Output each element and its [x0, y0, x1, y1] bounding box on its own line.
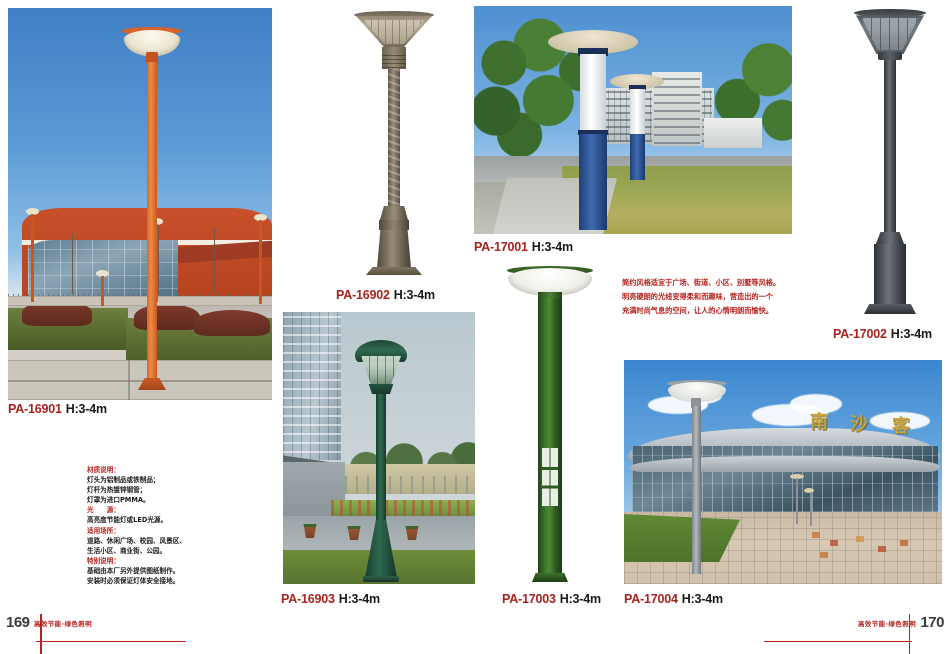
product-label-pa-16901: PA-16901H:3-4m: [8, 402, 107, 416]
product-code: PA-17004: [624, 592, 678, 606]
lamp-base: [874, 244, 906, 306]
footer-slogan-right: 高效节能·绿色照明: [858, 618, 916, 628]
product-code: PA-17001: [474, 240, 528, 254]
spec-special-line: 基础由本厂另外提供图纸制作。: [87, 566, 237, 576]
product-height: H:3-4m: [532, 240, 573, 254]
lamp-base-upper: [876, 232, 904, 244]
lamp-base-lower: [377, 230, 411, 268]
lamp-foot-plate: [366, 267, 422, 275]
product-photo-pa-16902: [338, 6, 450, 282]
terminal-sign-char: 客: [892, 412, 910, 438]
lamp-pole-lower-blue: [579, 134, 607, 230]
product-photo-pa-16903: [283, 312, 475, 584]
footer-left: 169 高效节能·绿色照明: [6, 614, 186, 640]
bare-tree: [214, 228, 215, 294]
red-shrub: [194, 310, 270, 336]
lamp-collar: [878, 52, 902, 60]
lamp-foot-plate: [864, 304, 916, 314]
product-photo-pa-17003: [500, 258, 600, 588]
blurb-line: 充满时尚气息的空间，让人的心情明朗而愉快。: [622, 304, 822, 318]
flower-bed: [331, 500, 475, 516]
lamp-foot-plate: [532, 573, 568, 582]
spec-light-source-line: 高亮度节能灯或LED光源。: [87, 515, 237, 525]
plaza-accent-tile: [820, 552, 828, 558]
footer-divider: [40, 614, 42, 654]
office-tower: [283, 312, 341, 480]
lamp-pole: [147, 62, 157, 386]
product-photo-pa-17001: [474, 6, 792, 234]
plaza-accent-tile: [856, 536, 864, 542]
footer-right: 高效节能·绿色照明 170: [764, 614, 944, 640]
spec-material-line: 灯头为铝制品或铁制品；: [87, 475, 237, 485]
footer-slogan-left: 高效节能·绿色照明: [34, 618, 92, 628]
page-number-left: 169: [6, 614, 30, 631]
marketing-blurb: 简约风格适宜于广场、街道、小区、别墅等风格。 明亮硬朗的光线变得柔和而趣味，营造…: [622, 276, 822, 318]
lamp-pole-lower-blue: [630, 134, 645, 180]
lamp-base-ring: [379, 220, 409, 230]
lamp-foot-plate: [363, 576, 399, 582]
product-height: H:3-4m: [66, 402, 107, 416]
product-height: H:3-4m: [394, 288, 435, 302]
paver-joint: [8, 380, 272, 382]
product-photo-pa-16901: [8, 8, 272, 400]
catalog-spread: PA-16901H:3-4m PA-16902H:3-4m: [0, 0, 950, 654]
blurb-line: 简约风格适宜于广场、街道、小区、别墅等风格。: [622, 276, 822, 290]
product-label-pa-16902: PA-16902H:3-4m: [336, 288, 435, 302]
plaza-accent-tile: [812, 532, 820, 538]
spec-material-line: 灯杆为热镀锌钢管；: [87, 485, 237, 495]
paved-walkway: [8, 296, 272, 306]
footer-divider: [909, 614, 911, 654]
spec-application-line: 道路、休闲广场、校园、风景区、: [87, 536, 237, 546]
spec-material-line: 灯罩为进口PMMA。: [87, 495, 237, 505]
product-height: H:3-4m: [682, 592, 723, 606]
red-shrub: [134, 304, 200, 330]
lamp-base-upper: [380, 206, 408, 220]
product-height: H:3-4m: [891, 327, 932, 341]
terminal-sign-char: 南: [810, 408, 828, 434]
spec-material-heading: 材质说明：: [87, 465, 237, 475]
plaza-accent-tile: [878, 546, 886, 552]
lamp-square-pole: [538, 298, 562, 576]
plaza-accent-tile: [900, 540, 908, 546]
page-number-right: 170: [920, 614, 944, 631]
lawn: [624, 514, 740, 562]
lamp-pole-upper-white: [630, 89, 645, 135]
lamp-collar-rings: [382, 52, 406, 68]
lamp-pole: [388, 69, 400, 209]
specification-block: 材质说明： 灯头为铝制品或铁制品； 灯杆为热镀锌钢管； 灯罩为进口PMMA。 光…: [87, 465, 237, 586]
product-height: H:3-4m: [560, 592, 601, 606]
blurb-line: 明亮硬朗的光线变得柔和而趣味，营造出的一个: [622, 290, 822, 304]
plaza-accent-tile: [830, 540, 838, 546]
lamp-shade-glass: [862, 18, 918, 50]
product-code: PA-17003: [502, 592, 556, 606]
product-label-pa-17001: PA-17001H:3-4m: [474, 240, 573, 254]
product-photo-pa-17002: [840, 4, 940, 320]
product-code: PA-16902: [336, 288, 390, 302]
spec-light-source-heading: 光 源：: [87, 505, 237, 515]
product-height: H:3-4m: [339, 592, 380, 606]
terminal-canopy: [630, 456, 940, 472]
product-photo-pa-17004: 南 沙 客: [624, 360, 942, 584]
spec-application-heading: 适用场所：: [87, 526, 237, 536]
product-label-pa-17004: PA-17004H:3-4m: [624, 592, 723, 606]
lamp-pole: [884, 60, 896, 236]
bare-tree: [158, 222, 159, 294]
footer-rule: [36, 641, 186, 643]
product-label-pa-17003: PA-17003H:3-4m: [502, 592, 601, 606]
product-code: PA-16903: [281, 592, 335, 606]
low-white-building: [704, 118, 762, 148]
pergola-walkway: [345, 464, 475, 494]
lamp-pole: [692, 406, 701, 574]
product-code: PA-17002: [833, 327, 887, 341]
product-label-pa-16903: PA-16903H:3-4m: [281, 592, 380, 606]
lamp-window-panel: [542, 448, 558, 506]
spec-special-heading: 特别说明：: [87, 556, 237, 566]
bare-tree: [72, 234, 73, 294]
spec-application-line: 生活小区、商业街、公园。: [87, 546, 237, 556]
terminal-sign-char: 沙: [850, 410, 868, 436]
lamp-pole: [376, 394, 386, 522]
product-code: PA-16901: [8, 402, 62, 416]
lamp-pole-upper-white: [580, 54, 606, 132]
footer-rule: [764, 641, 912, 643]
spec-special-line: 安装时必须保证灯体安全接地。: [87, 576, 237, 586]
product-label-pa-17002: PA-17002H:3-4m: [833, 327, 932, 341]
